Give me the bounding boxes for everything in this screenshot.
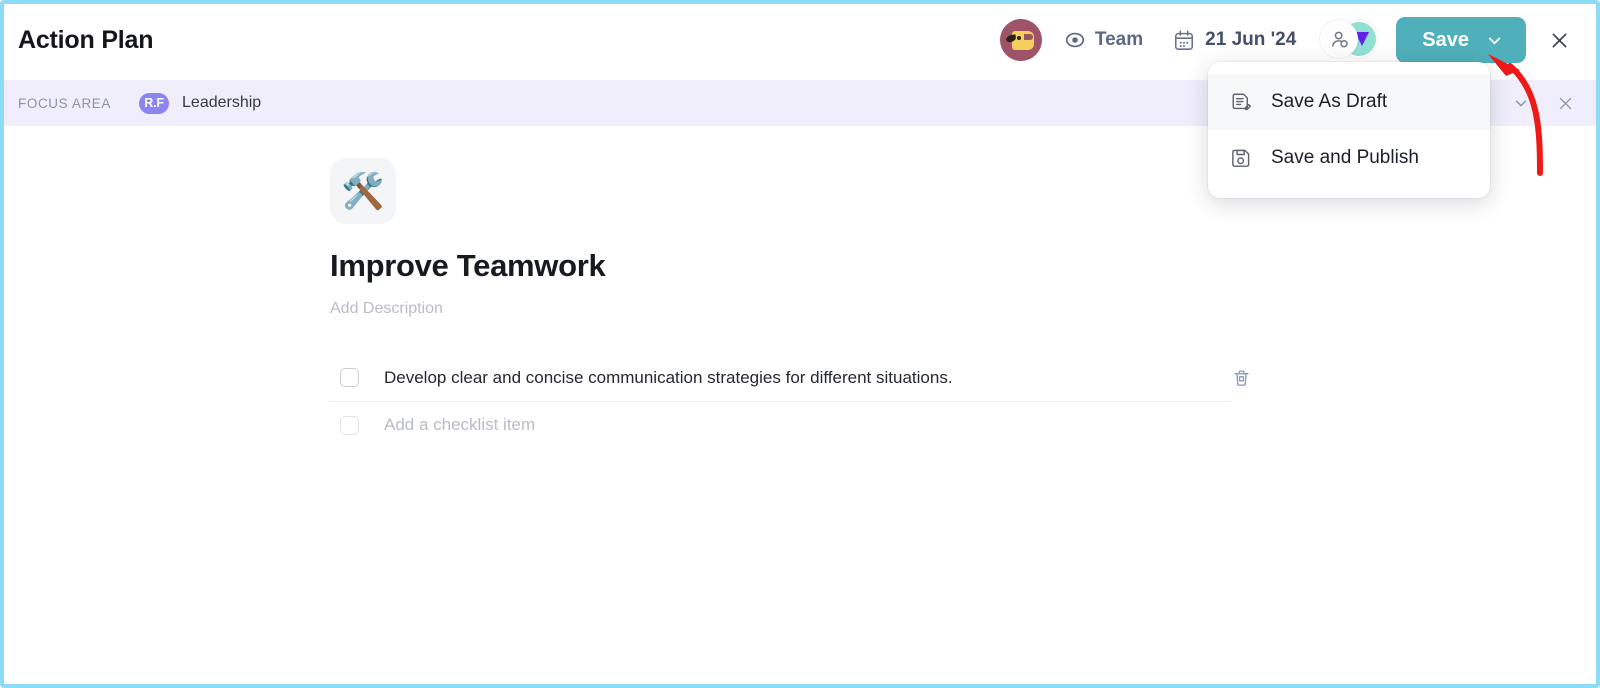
- checklist-item[interactable]: Develop clear and concise communication …: [330, 354, 1230, 401]
- header-actions: Team 21 Jun ': [1000, 17, 1576, 63]
- chevron-down-icon[interactable]: [1508, 90, 1534, 116]
- add-checklist-item-row[interactable]: Add a checklist item: [330, 401, 1230, 448]
- add-checklist-item-checkbox: [340, 416, 359, 435]
- hammer-and-wrench-icon[interactable]: 🛠️: [330, 158, 396, 224]
- focus-area-chip[interactable]: R.F Leadership: [139, 93, 261, 114]
- avatar[interactable]: [1000, 19, 1042, 61]
- calendar-icon: [1173, 29, 1195, 52]
- visibility-label: Team: [1095, 29, 1143, 51]
- menu-item-save-and-publish[interactable]: Save and Publish: [1208, 130, 1490, 186]
- page-title: Action Plan: [18, 26, 153, 55]
- checklist-item-checkbox[interactable]: [340, 368, 359, 387]
- add-checklist-item-input[interactable]: Add a checklist item: [384, 415, 535, 435]
- chevron-down-icon[interactable]: [1485, 31, 1504, 50]
- action-plan-window: Action Plan Team: [0, 0, 1600, 688]
- goal-title[interactable]: Improve Teamwork: [330, 248, 1596, 284]
- close-icon[interactable]: [1552, 90, 1578, 116]
- menu-item-save-as-draft[interactable]: Save As Draft: [1208, 74, 1490, 130]
- trash-icon[interactable]: [1228, 365, 1254, 391]
- avatar-notch: [1024, 34, 1033, 40]
- checklist-item-label[interactable]: Develop clear and concise communication …: [384, 368, 953, 388]
- checklist: Develop clear and concise communication …: [330, 354, 1230, 448]
- menu-item-label: Save As Draft: [1271, 91, 1387, 113]
- visibility-control[interactable]: Team: [1064, 29, 1143, 51]
- save-button[interactable]: Save: [1396, 17, 1526, 63]
- main-content: 🛠️ Improve Teamwork Add Description Deve…: [4, 126, 1596, 684]
- avatar-eye: [1017, 36, 1021, 40]
- due-date-label: 21 Jun '24: [1205, 29, 1296, 51]
- close-icon[interactable]: [1542, 23, 1576, 57]
- assignee-stack[interactable]: [1320, 20, 1380, 60]
- focus-area-caption: FOCUS AREA: [18, 96, 111, 111]
- focus-area-badge: R.F: [139, 93, 169, 114]
- goal-description-input[interactable]: Add Description: [330, 300, 1596, 318]
- focus-area-name: Leadership: [182, 94, 261, 112]
- menu-item-label: Save and Publish: [1271, 147, 1419, 169]
- due-date-control[interactable]: 21 Jun '24: [1173, 29, 1296, 52]
- save-button-label: Save: [1422, 29, 1469, 52]
- eye-icon: [1064, 29, 1086, 51]
- focus-area-controls: [1508, 90, 1578, 116]
- document-draft-icon: [1230, 91, 1253, 114]
- save-dropdown-menu: Save As Draft Save and Publish: [1208, 62, 1490, 198]
- floppy-disk-icon: [1230, 147, 1253, 170]
